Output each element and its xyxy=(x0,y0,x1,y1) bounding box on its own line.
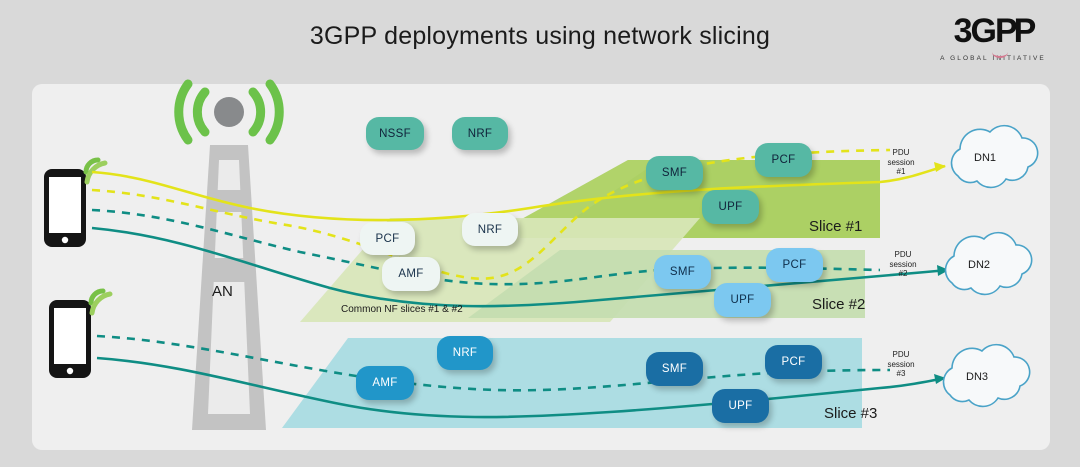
node-slice3-nrf-1[interactable]: NRF xyxy=(437,336,493,370)
node-slice1-upf-2[interactable]: UPF xyxy=(702,190,759,224)
diagram-canvas xyxy=(0,0,1080,467)
node-label: PCF xyxy=(772,154,796,166)
node-common-nrf-1[interactable]: NRF xyxy=(452,117,508,150)
signal-arc-right-outer xyxy=(270,84,279,140)
node-common-nssf-0[interactable]: NSSF xyxy=(366,117,424,150)
wifi-icon-2 xyxy=(91,291,110,313)
node-label: PCF xyxy=(782,356,806,368)
node-commonnf-amf-2[interactable]: AMF xyxy=(382,257,440,291)
node-label: AMF xyxy=(398,268,423,280)
node-label: UPF xyxy=(731,294,755,306)
tower-antenna-dot xyxy=(214,97,244,127)
node-label: NRF xyxy=(478,224,503,236)
signal-arc-left-outer xyxy=(179,84,188,140)
node-slice2-smf-0[interactable]: SMF xyxy=(654,255,711,289)
node-label: NRF xyxy=(453,347,478,359)
node-commonnf-nrf-1[interactable]: NRF xyxy=(462,213,518,246)
signal-arc-right-inner xyxy=(253,92,261,132)
arrowhead-dn1 xyxy=(934,162,946,172)
node-label: UPF xyxy=(729,400,753,412)
node-slice3-upf-4[interactable]: UPF xyxy=(712,389,769,423)
node-slice1-smf-0[interactable]: SMF xyxy=(646,156,703,190)
node-slice2-upf-2[interactable]: UPF xyxy=(714,283,771,317)
cloud-dn1 xyxy=(952,126,1038,188)
diagram-root: 3GPP deployments using network slicing 3… xyxy=(0,0,1080,467)
node-label: PCF xyxy=(376,233,400,245)
node-label: NRF xyxy=(468,128,493,140)
cloud-dn3 xyxy=(944,345,1030,407)
smartphone-2 xyxy=(49,291,110,378)
node-label: SMF xyxy=(662,167,687,179)
node-label: NSSF xyxy=(379,128,411,140)
node-commonnf-pcf-0[interactable]: PCF xyxy=(360,222,415,255)
cloud-dn2 xyxy=(946,233,1032,295)
node-label: AMF xyxy=(372,377,397,389)
node-label: SMF xyxy=(670,266,695,278)
node-slice3-smf-2[interactable]: SMF xyxy=(646,352,703,386)
node-slice3-amf-0[interactable]: AMF xyxy=(356,366,414,400)
node-label: PCF xyxy=(783,259,807,271)
node-slice1-pcf-1[interactable]: PCF xyxy=(755,143,812,177)
node-slice2-pcf-1[interactable]: PCF xyxy=(766,248,823,282)
signal-arc-left-inner xyxy=(197,92,205,132)
node-slice3-pcf-3[interactable]: PCF xyxy=(765,345,822,379)
node-label: SMF xyxy=(662,363,687,375)
node-label: UPF xyxy=(719,201,743,213)
